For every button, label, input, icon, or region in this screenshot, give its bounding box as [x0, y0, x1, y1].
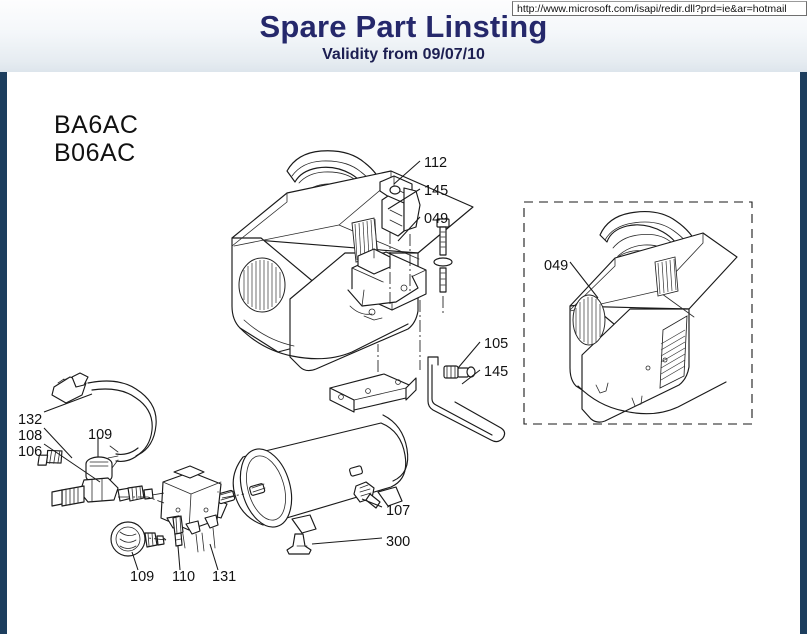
status-bar-url-tooltip: http://www.microsoft.com/isapi/redir.dll…	[512, 1, 807, 16]
callout-108: 108	[18, 428, 42, 444]
callout-105: 105	[484, 336, 508, 352]
callout-131: 131	[212, 569, 236, 585]
callout-112: 112	[424, 155, 447, 171]
callout-145-right: 145	[484, 364, 508, 380]
callout-145-top: 145	[424, 183, 448, 199]
callout-107: 107	[386, 503, 410, 519]
callout-109-lower: 109	[130, 569, 154, 585]
callout-106: 106	[18, 444, 42, 460]
spare-part-listing-page: Spare Part Linsting Validity from 09/07/…	[0, 0, 807, 634]
page-subtitle: Validity from 09/07/10	[0, 45, 807, 65]
callout-049-main: 049	[424, 211, 448, 227]
callout-110: 110	[172, 569, 195, 585]
model-label-b06ac: B06AC	[54, 139, 136, 168]
callout-049-inset: 049	[544, 258, 568, 274]
callout-109-upper: 109	[88, 427, 112, 443]
model-label-ba6ac: BA6AC	[54, 111, 138, 140]
callout-300: 300	[386, 534, 410, 550]
callout-132: 132	[18, 412, 42, 428]
